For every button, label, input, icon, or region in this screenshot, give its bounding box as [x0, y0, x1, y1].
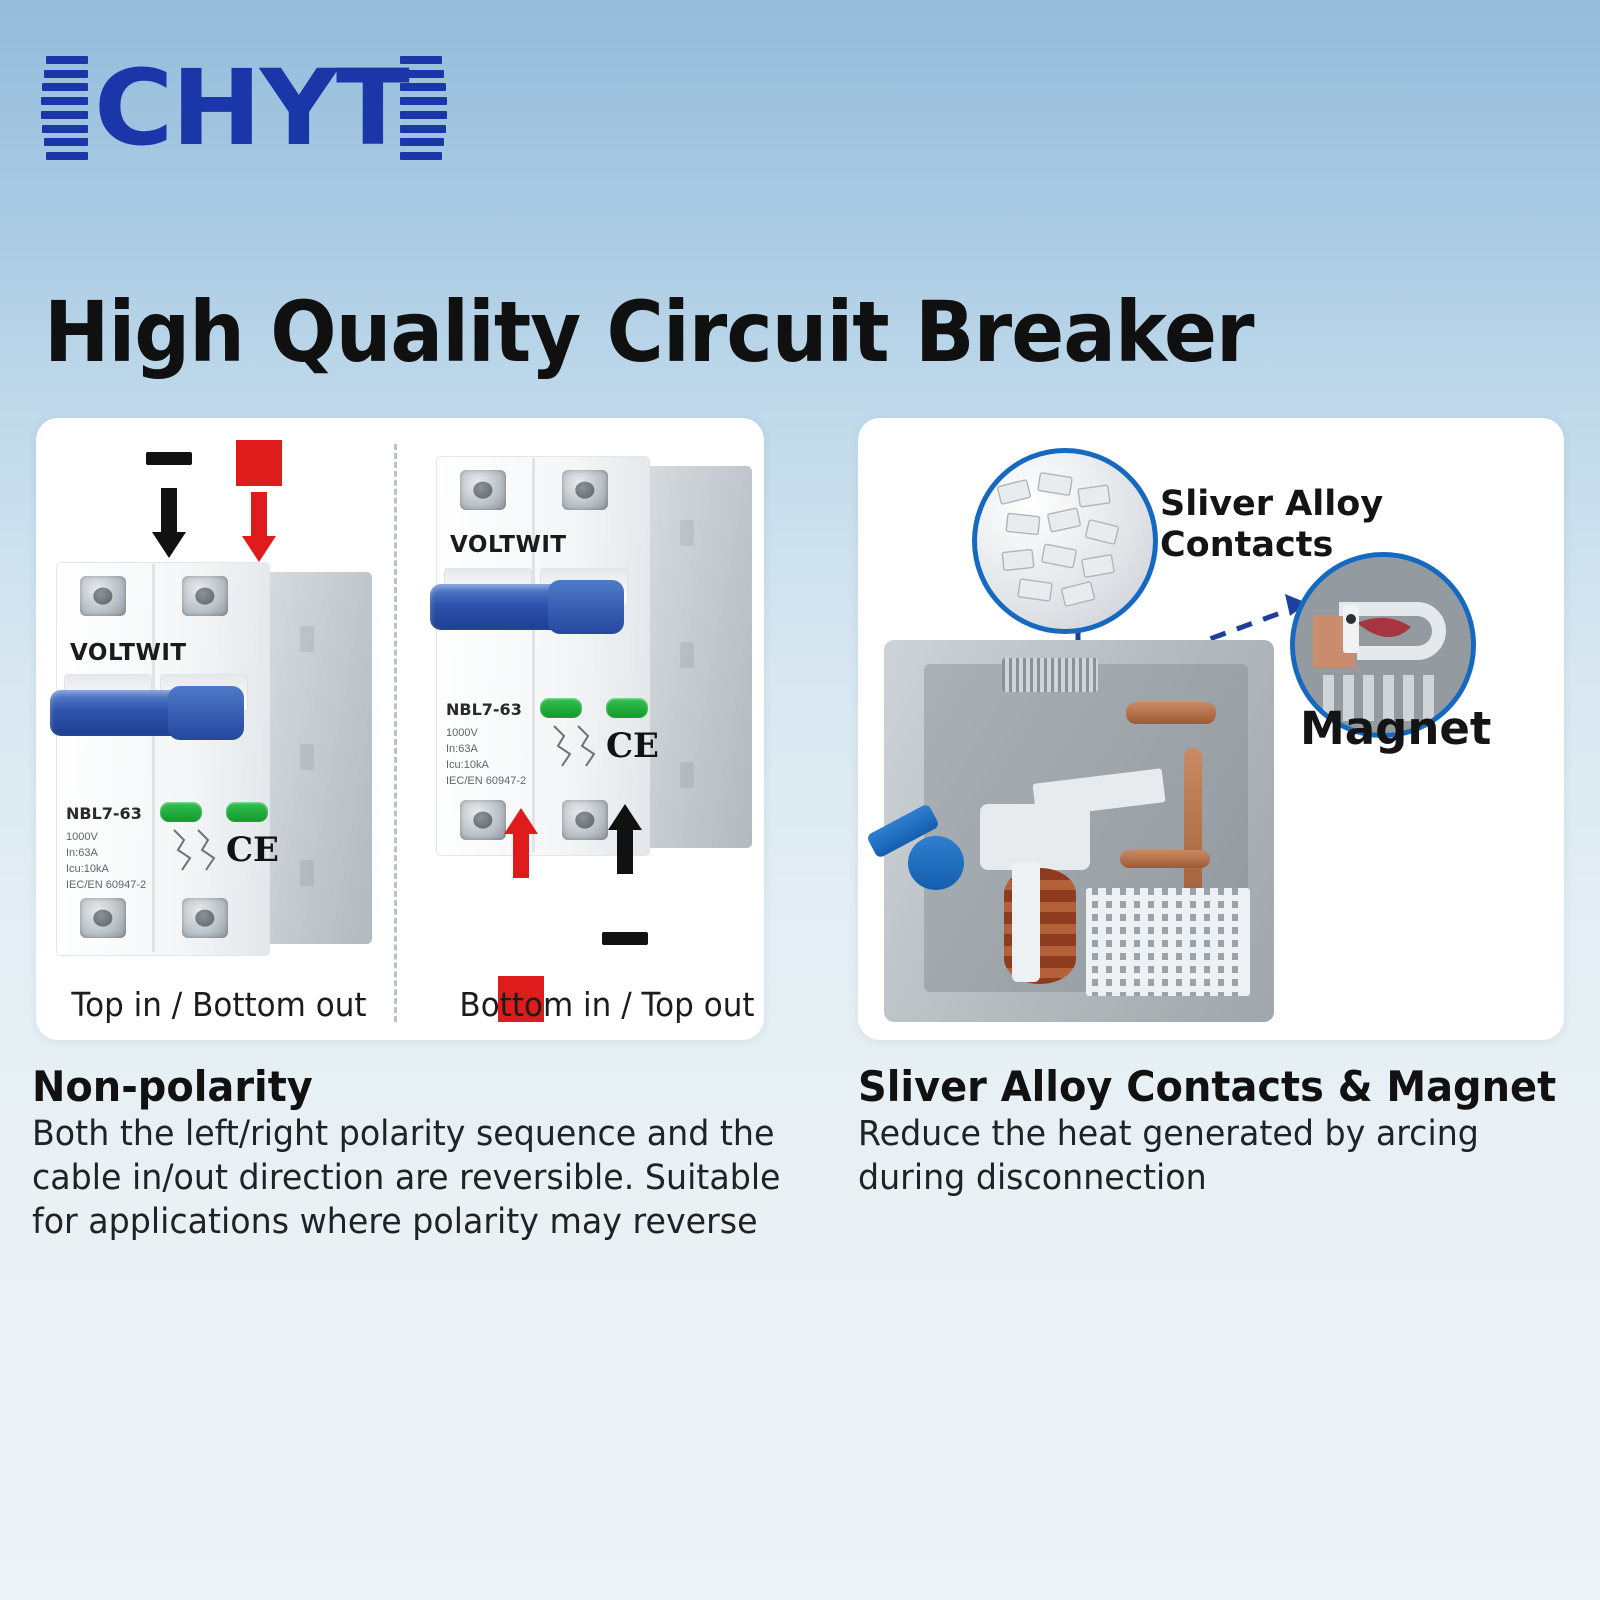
- minus-sign-bottom-right: [602, 932, 648, 945]
- breaker-brand-right: VOLTWIT: [450, 532, 567, 558]
- feature-body-contacts-magnet: Reduce the heat generated by arcing duri…: [858, 1112, 1580, 1200]
- brand-logo: CHYT: [36, 52, 452, 164]
- feature-body-non-polarity: Both the left/right polarity sequence an…: [32, 1112, 811, 1244]
- indicator-window-right-2: [606, 698, 648, 718]
- minus-sign-top-left: [146, 452, 192, 465]
- breaker-model-right: NBL7-63: [446, 700, 522, 719]
- indicator-window-right-1: [540, 698, 582, 718]
- caption-bottom-in-top-out: Bottom in / Top out: [459, 985, 754, 1024]
- breaker-unit-left: VOLTWIT NBL7-63 1000V In:63A Icu:10kA IE…: [48, 548, 378, 968]
- caption-top-in-bottom-out: Top in / Bottom out: [71, 985, 366, 1024]
- blue-lever-hub: [908, 836, 964, 890]
- breaker-specs-right: 1000V In:63A Icu:10kA IEC/EN 60947-2: [446, 726, 526, 790]
- infographic-page: CHYT High Quality Circuit Breaker VOLTWI…: [0, 0, 1600, 1600]
- plus-sign-top-left: [236, 440, 282, 486]
- panel-divider: [394, 444, 397, 1022]
- ce-mark-left: CE: [226, 830, 279, 870]
- arc-chute: [1086, 888, 1250, 996]
- contacts-photo-bubble: [972, 448, 1158, 634]
- logo-stripes-left-icon: [36, 56, 88, 160]
- breaker-model-left: NBL7-63: [66, 804, 142, 823]
- feature-title-non-polarity: Non-polarity: [32, 1062, 313, 1111]
- indicator-window-left-2: [226, 802, 268, 822]
- feature-title-contacts-magnet: Sliver Alloy Contacts & Magnet: [858, 1062, 1556, 1111]
- trip-curve-icon-right: [548, 720, 608, 776]
- breaker-cutaway-diagram: [884, 640, 1274, 1022]
- label-sliver-alloy-contacts: Sliver Alloy Contacts: [1160, 484, 1383, 567]
- indicator-window-left-1: [160, 802, 202, 822]
- breaker-specs-left: 1000V In:63A Icu:10kA IEC/EN 60947-2: [66, 830, 146, 894]
- ce-mark-right: CE: [606, 726, 659, 766]
- label-magnet: Magnet: [1300, 702, 1491, 755]
- breaker-brand-left: VOLTWIT: [70, 640, 187, 666]
- trip-curve-icon: [168, 824, 228, 880]
- breaker-unit-right: VOLTWIT NBL7-63 1000V In:63A Icu:10kA IE…: [428, 448, 758, 878]
- page-title: High Quality Circuit Breaker: [44, 286, 1254, 378]
- logo-wordmark: CHYT: [94, 56, 408, 160]
